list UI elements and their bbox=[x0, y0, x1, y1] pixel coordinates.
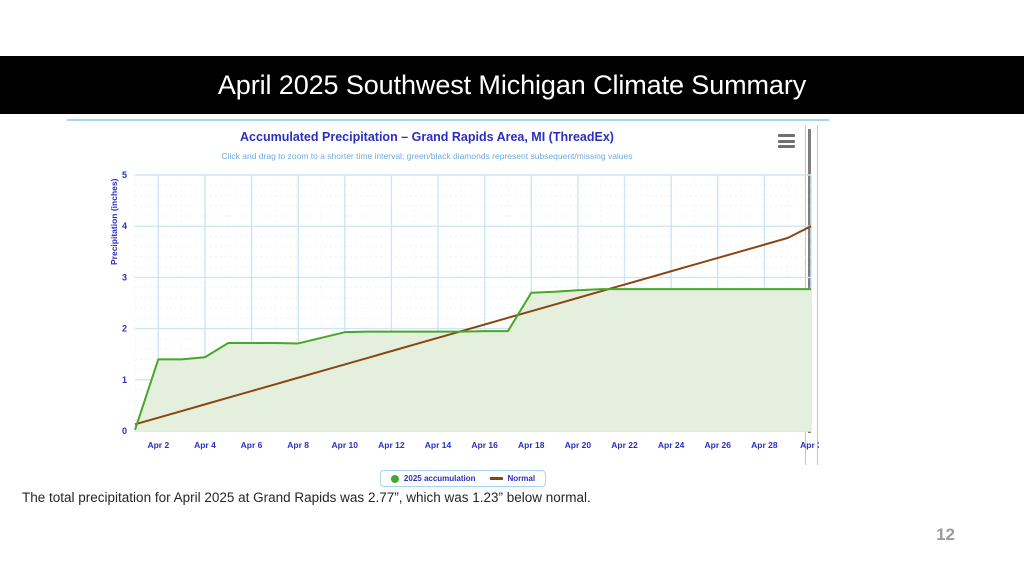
svg-text:Apr 18: Apr 18 bbox=[518, 440, 545, 450]
svg-text:Apr 26: Apr 26 bbox=[705, 440, 732, 450]
svg-text:Apr 10: Apr 10 bbox=[332, 440, 359, 450]
legend-item-normal[interactable]: Normal bbox=[490, 474, 536, 483]
plot-area[interactable]: Precipitation (inches) 012345 Apr 2Apr 4… bbox=[107, 169, 819, 471]
x-axis-tick-labels: Apr 2Apr 4Apr 6Apr 8Apr 10Apr 12Apr 14Ap… bbox=[147, 440, 819, 450]
svg-text:5: 5 bbox=[122, 170, 127, 180]
svg-text:Apr 4: Apr 4 bbox=[194, 440, 216, 450]
chart-svg[interactable]: 012345 Apr 2Apr 4Apr 6Apr 8Apr 10Apr 12A… bbox=[107, 169, 819, 471]
chart-card: Accumulated Precipitation – Grand Rapids… bbox=[67, 119, 829, 471]
svg-text:Apr 16: Apr 16 bbox=[471, 440, 498, 450]
slide-caption: The total precipitation for April 2025 a… bbox=[22, 490, 591, 505]
legend-line-icon bbox=[490, 477, 503, 480]
svg-text:2: 2 bbox=[122, 324, 127, 334]
accumulation-area-fill bbox=[135, 289, 811, 431]
slide-title-bar: April 2025 Southwest Michigan Climate Su… bbox=[0, 56, 1024, 114]
page-title: April 2025 Southwest Michigan Climate Su… bbox=[218, 70, 806, 101]
chart-title: Accumulated Precipitation – Grand Rapids… bbox=[67, 130, 787, 144]
svg-text:Apr 28: Apr 28 bbox=[751, 440, 778, 450]
svg-text:Apr 8: Apr 8 bbox=[287, 440, 309, 450]
menu-bar-2 bbox=[778, 140, 795, 143]
legend-label-normal: Normal bbox=[508, 474, 536, 483]
svg-text:Apr 12: Apr 12 bbox=[378, 440, 405, 450]
svg-text:1: 1 bbox=[122, 375, 127, 385]
hamburger-menu-icon[interactable] bbox=[778, 134, 795, 148]
legend-dot-icon bbox=[391, 475, 399, 483]
svg-text:3: 3 bbox=[122, 272, 127, 282]
svg-text:0: 0 bbox=[122, 426, 127, 436]
svg-text:Apr 6: Apr 6 bbox=[241, 440, 263, 450]
svg-text:Apr 2: Apr 2 bbox=[147, 440, 169, 450]
svg-text:4: 4 bbox=[122, 221, 127, 231]
svg-text:Apr 14: Apr 14 bbox=[425, 440, 452, 450]
chart-subtitle: Click and drag to zoom to a shorter time… bbox=[67, 151, 787, 161]
chart-legend: 2025 accumulation Normal bbox=[380, 470, 546, 487]
legend-label-accumulation: 2025 accumulation bbox=[404, 474, 476, 483]
y-axis-tick-labels: 012345 bbox=[122, 170, 127, 436]
svg-text:Apr 22: Apr 22 bbox=[611, 440, 638, 450]
legend-item-accumulation[interactable]: 2025 accumulation bbox=[391, 474, 476, 483]
menu-bar-1 bbox=[778, 134, 795, 137]
svg-text:Apr 20: Apr 20 bbox=[565, 440, 592, 450]
svg-text:Apr 3: Apr 3 bbox=[800, 440, 819, 450]
menu-bar-3 bbox=[778, 145, 795, 148]
page-number: 12 bbox=[936, 525, 955, 545]
svg-text:Apr 24: Apr 24 bbox=[658, 440, 685, 450]
